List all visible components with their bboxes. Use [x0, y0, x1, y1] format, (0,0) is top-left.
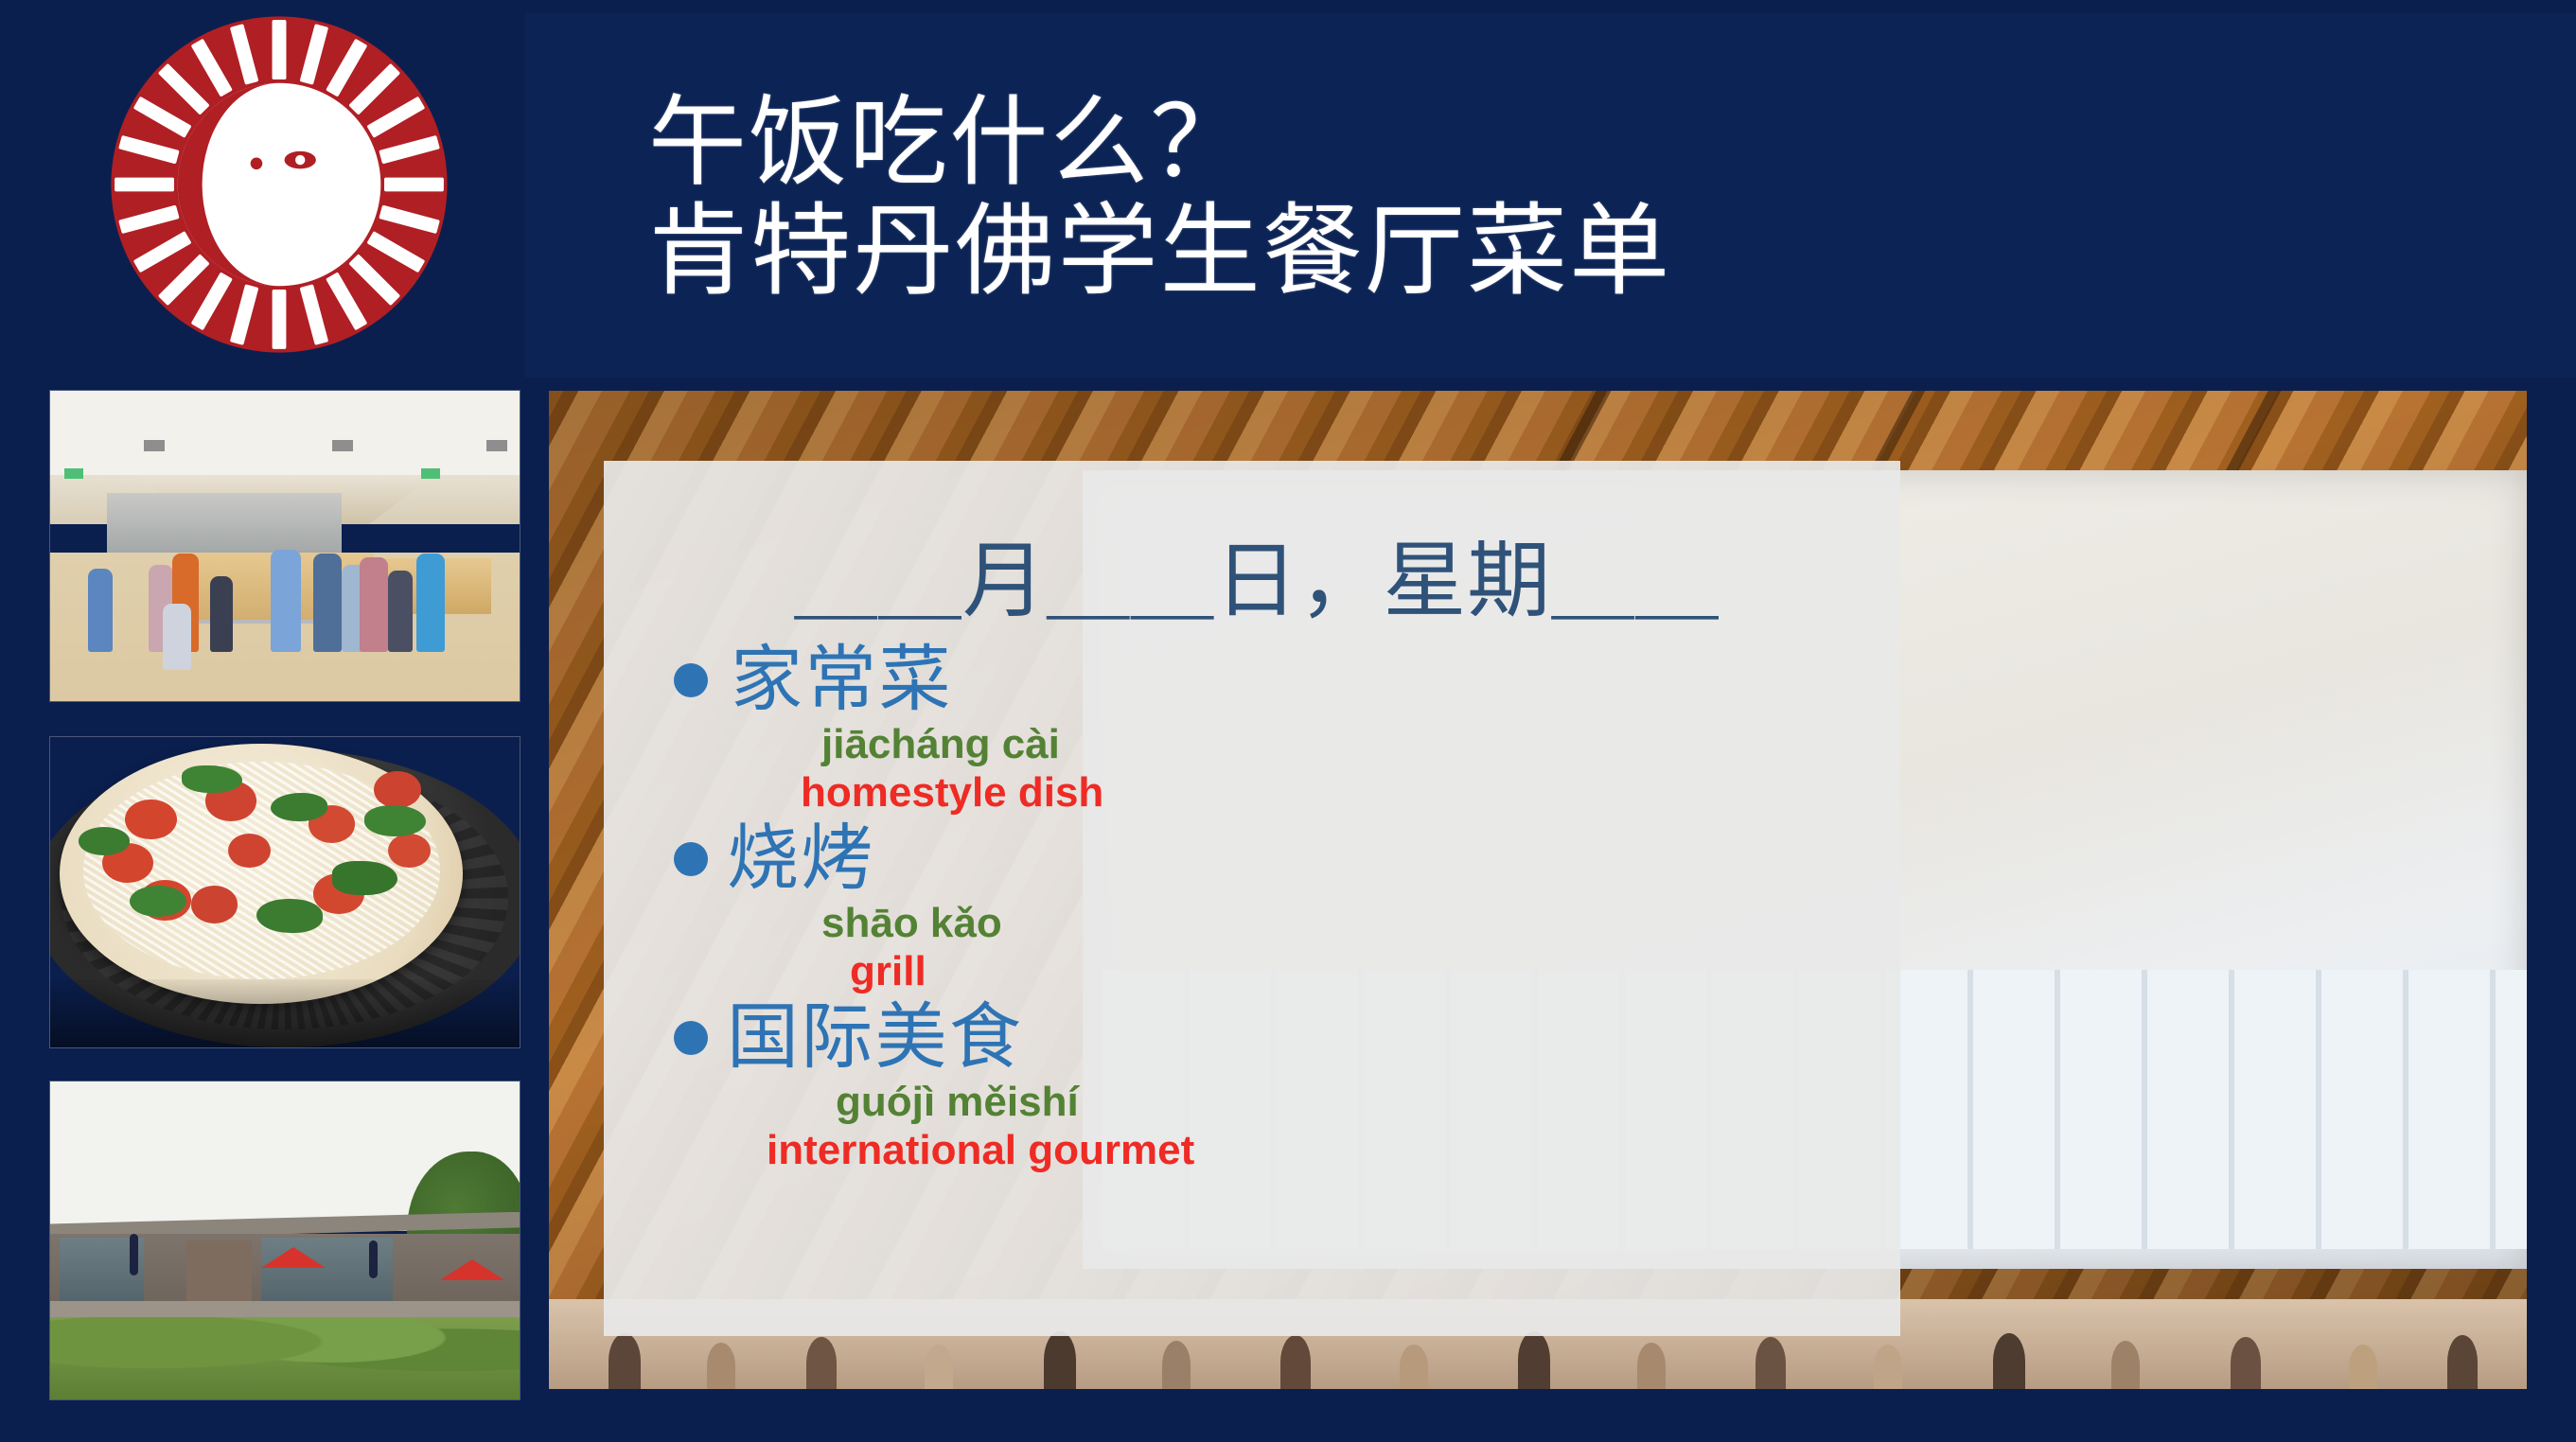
menu-item: 国际美食 guójì měishí international gourmet [642, 997, 1872, 1174]
kent-denver-sun-logo [104, 9, 454, 360]
cafeteria-scene [50, 391, 520, 701]
menu-item-hanzi: 国际美食 [727, 997, 1023, 1078]
menu-content-panel: ＿＿月＿＿日，星期＿＿ 家常菜 jiācháng cài homestyle d… [604, 461, 1900, 1336]
slide-title: 午饭吃什么？ 肯特丹佛学生餐厅菜单 [648, 28, 2162, 369]
bullet-icon [674, 663, 708, 697]
menu-item-english: homestyle dish [801, 768, 1872, 817]
menu-item: 家常菜 jiācháng cài homestyle dish [642, 640, 1872, 817]
photo-building [49, 1081, 520, 1400]
title-line-2: 肯特丹佛学生餐厅菜单 [648, 198, 2162, 308]
menu-item-english: international gourmet [767, 1126, 1872, 1174]
bullet-icon [674, 1021, 708, 1055]
photo-pizza [49, 736, 520, 1048]
menu-item-hanzi: 烧烤 [727, 818, 875, 899]
menu-item-hanzi: 家常菜 [731, 640, 953, 720]
title-line-1: 午饭吃什么？ [648, 90, 2162, 198]
photo-cafeteria [49, 390, 520, 702]
building-scene [50, 1081, 520, 1399]
menu-item-pinyin: shāo kǎo [821, 899, 1872, 947]
bullet-icon [674, 842, 708, 876]
date-heading: ＿＿月＿＿日，星期＿＿ [642, 514, 1872, 634]
menu-item-pinyin: jiācháng cài [821, 720, 1872, 768]
menu-item-english: grill [850, 947, 1872, 995]
slide-canvas: 午饭吃什么？ 肯特丹佛学生餐厅菜单 [0, 0, 2576, 1442]
menu-item-pinyin: guójì měishí [836, 1078, 1872, 1126]
menu-item: 烧烤 shāo kǎo grill [642, 818, 1872, 995]
pizza-scene [50, 737, 520, 1047]
